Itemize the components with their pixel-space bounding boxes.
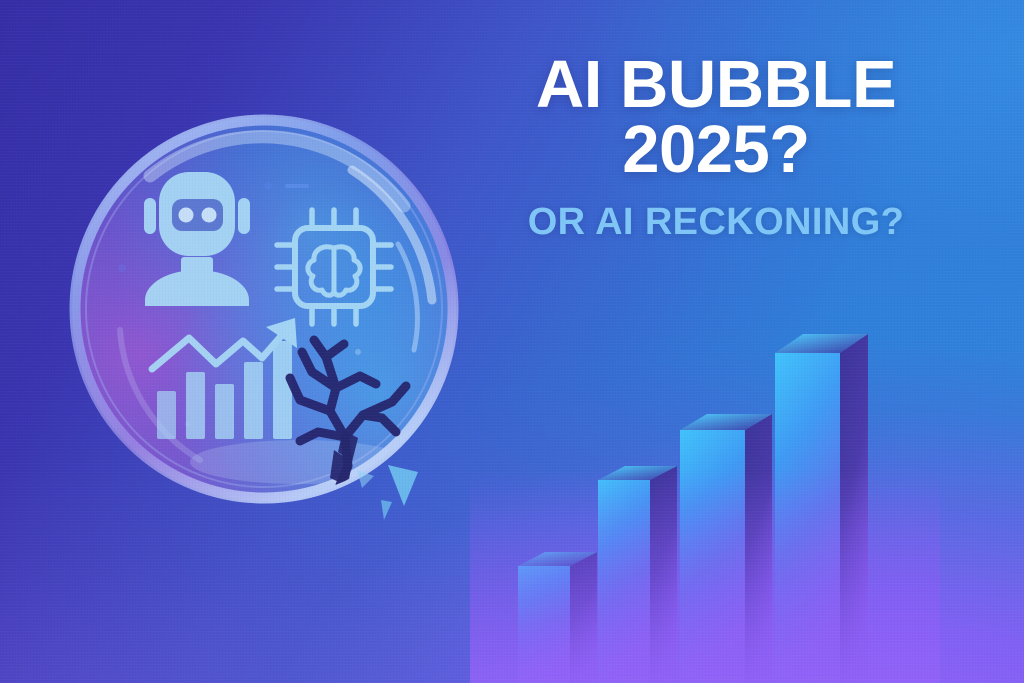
headline-line-1: AI BUBBLE <box>536 47 896 122</box>
page-subtitle: OR AI RECKONING? <box>446 203 986 241</box>
dot-accent <box>355 349 361 355</box>
crack-shards <box>357 465 418 520</box>
dash-accent <box>285 184 309 188</box>
dot-accent <box>264 182 272 190</box>
headline-line-2: 2025? <box>446 117 986 182</box>
page-title: AI BUBBLE 2025? <box>446 52 986 182</box>
dot-accent <box>118 264 126 272</box>
poster-canvas: AI BUBBLE 2025? OR AI RECKONING? <box>0 0 1024 683</box>
title-block: AI BUBBLE 2025? OR AI RECKONING? <box>446 52 986 241</box>
